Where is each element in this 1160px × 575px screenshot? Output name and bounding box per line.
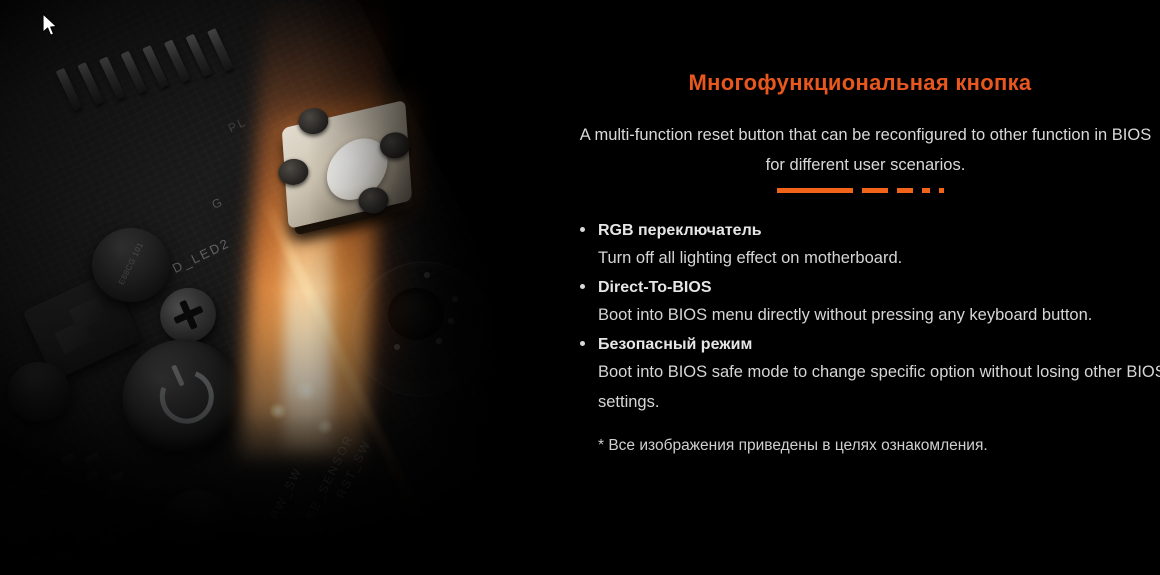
pcb-via [448,318,454,324]
capacitor: E88CG 101 [92,228,170,302]
list-item: Direct-To-BIOS Boot into BIOS menu direc… [578,275,1160,330]
feature-title: RGB переключатель [598,218,1160,243]
product-feature-panel: E88CG 101 E88CG 101 [0,0,1160,575]
pcb-via [436,338,442,344]
pcb-via [452,296,458,302]
feature-description: Boot into BIOS menu directly without pre… [598,300,1160,330]
product-photo: E88CG 101 E88CG 101 [0,0,560,575]
feature-list: RGB переключатель Turn off all lighting … [578,218,1160,419]
capacitor [8,362,70,422]
divider-dash [897,188,913,193]
copy-block: Многофункциональная кнопка A multi-funct… [560,0,1160,575]
pcb-via [424,272,430,278]
feature-description: Turn off all lighting effect on motherbo… [598,243,1160,273]
divider-dash [777,188,853,193]
feature-title: Безопасный режим [598,332,1160,357]
page-title: Многофункциональная кнопка [560,70,1160,96]
capacitor-marking: E88CG 101 [110,227,152,301]
footnote: * Все изображения приведены в целях озна… [598,434,1160,458]
glow-pad [318,420,332,433]
glow-pad [296,382,316,400]
list-item: Безопасный режим Boot into BIOS safe mod… [578,332,1160,417]
glow-pad [270,404,286,418]
decorative-divider [560,186,1160,194]
divider-dash [862,188,888,193]
bullet-icon [580,227,585,232]
feature-description: Boot into BIOS safe mode to change speci… [598,357,1160,417]
divider-dash [939,188,944,193]
bullet-icon [580,341,585,346]
bullet-icon [580,284,585,289]
list-item: RGB переключатель Turn off all lighting … [578,218,1160,273]
feature-title: Direct-To-BIOS [598,275,1160,300]
lede-paragraph: A multi-function reset button that can b… [578,120,1153,180]
reset-button-switch [269,95,431,234]
pcb-via [394,344,400,350]
divider-dash [922,188,930,193]
board-mounting-hole [388,288,444,340]
